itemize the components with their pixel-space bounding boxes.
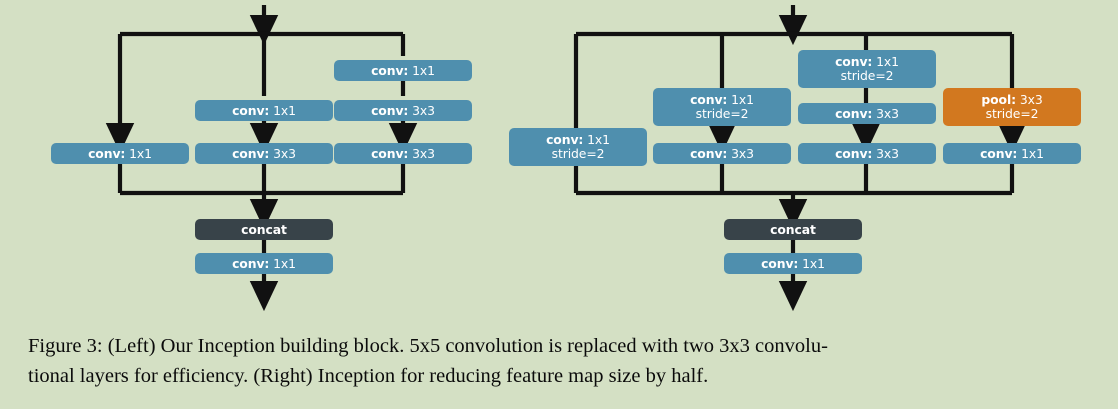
figure-3-inception-blocks: conv: 1x1 conv: 1x1 conv: 3x3 conv: 1x1 … bbox=[0, 0, 1118, 409]
caption-line-2: tional layers for efficiency. (Right) In… bbox=[28, 361, 1096, 391]
node-line-main: conv: 1x1 bbox=[88, 147, 152, 161]
node-line-main: conv: 1x1 bbox=[761, 257, 825, 271]
node-line-main: conv: 1x1 bbox=[546, 133, 610, 147]
figure-caption: Figure 3: (Left) Our Inception building … bbox=[28, 331, 1096, 392]
right-branch2-conv-3x3-mid[interactable]: conv: 3x3 bbox=[798, 103, 936, 124]
node-line-main: conv: 1x1 bbox=[690, 93, 754, 107]
right-branch1-conv-1x1-stride2[interactable]: conv: 1x1 stride=2 bbox=[653, 88, 791, 126]
left-branch2-conv-1x1-top[interactable]: conv: 1x1 bbox=[334, 60, 472, 81]
node-line-main: conv: 3x3 bbox=[690, 147, 754, 161]
node-line-main: conv: 1x1 bbox=[980, 147, 1044, 161]
left-branch0-conv-1x1-bottom[interactable]: conv: 1x1 bbox=[51, 143, 189, 164]
left-branch1-conv-1x1-mid[interactable]: conv: 1x1 bbox=[195, 100, 333, 121]
node-line-main: conv: 3x3 bbox=[835, 107, 899, 121]
node-line-main: conv: 3x3 bbox=[835, 147, 899, 161]
node-line-main: conv: 3x3 bbox=[232, 147, 296, 161]
right-branch3-conv-1x1-bottom[interactable]: conv: 1x1 bbox=[943, 143, 1081, 164]
left-output-conv-1x1[interactable]: conv: 1x1 bbox=[195, 253, 333, 274]
node-line-main: conv: 1x1 bbox=[371, 64, 435, 78]
node-line-main: concat bbox=[770, 223, 816, 237]
node-line-sub: stride=2 bbox=[841, 69, 894, 83]
node-line-sub: stride=2 bbox=[986, 107, 1039, 121]
node-line-sub: stride=2 bbox=[552, 147, 605, 161]
node-line-main: conv: 3x3 bbox=[371, 147, 435, 161]
node-line-main: conv: 1x1 bbox=[232, 104, 296, 118]
left-concat-block[interactable]: concat bbox=[195, 219, 333, 240]
right-branch1-conv-3x3-bottom[interactable]: conv: 3x3 bbox=[653, 143, 791, 164]
node-line-main: conv: 1x1 bbox=[232, 257, 296, 271]
right-output-conv-1x1[interactable]: conv: 1x1 bbox=[724, 253, 862, 274]
right-branch0-conv-1x1-stride2[interactable]: conv: 1x1 stride=2 bbox=[509, 128, 647, 166]
right-concat-block[interactable]: concat bbox=[724, 219, 862, 240]
node-line-sub: stride=2 bbox=[696, 107, 749, 121]
left-branch2-conv-3x3-bottom[interactable]: conv: 3x3 bbox=[334, 143, 472, 164]
right-branch3-pool-3x3-stride2[interactable]: pool: 3x3 stride=2 bbox=[943, 88, 1081, 126]
node-line-main: pool: 3x3 bbox=[981, 93, 1042, 107]
node-line-main: concat bbox=[241, 223, 287, 237]
left-branch2-conv-3x3-mid[interactable]: conv: 3x3 bbox=[334, 100, 472, 121]
node-line-main: conv: 3x3 bbox=[371, 104, 435, 118]
left-branch1-conv-3x3-bottom[interactable]: conv: 3x3 bbox=[195, 143, 333, 164]
node-line-main: conv: 1x1 bbox=[835, 55, 899, 69]
right-branch2-conv-1x1-stride2-top[interactable]: conv: 1x1 stride=2 bbox=[798, 50, 936, 88]
caption-line-1: Figure 3: (Left) Our Inception building … bbox=[28, 331, 1096, 361]
right-branch2-conv-3x3-bottom[interactable]: conv: 3x3 bbox=[798, 143, 936, 164]
